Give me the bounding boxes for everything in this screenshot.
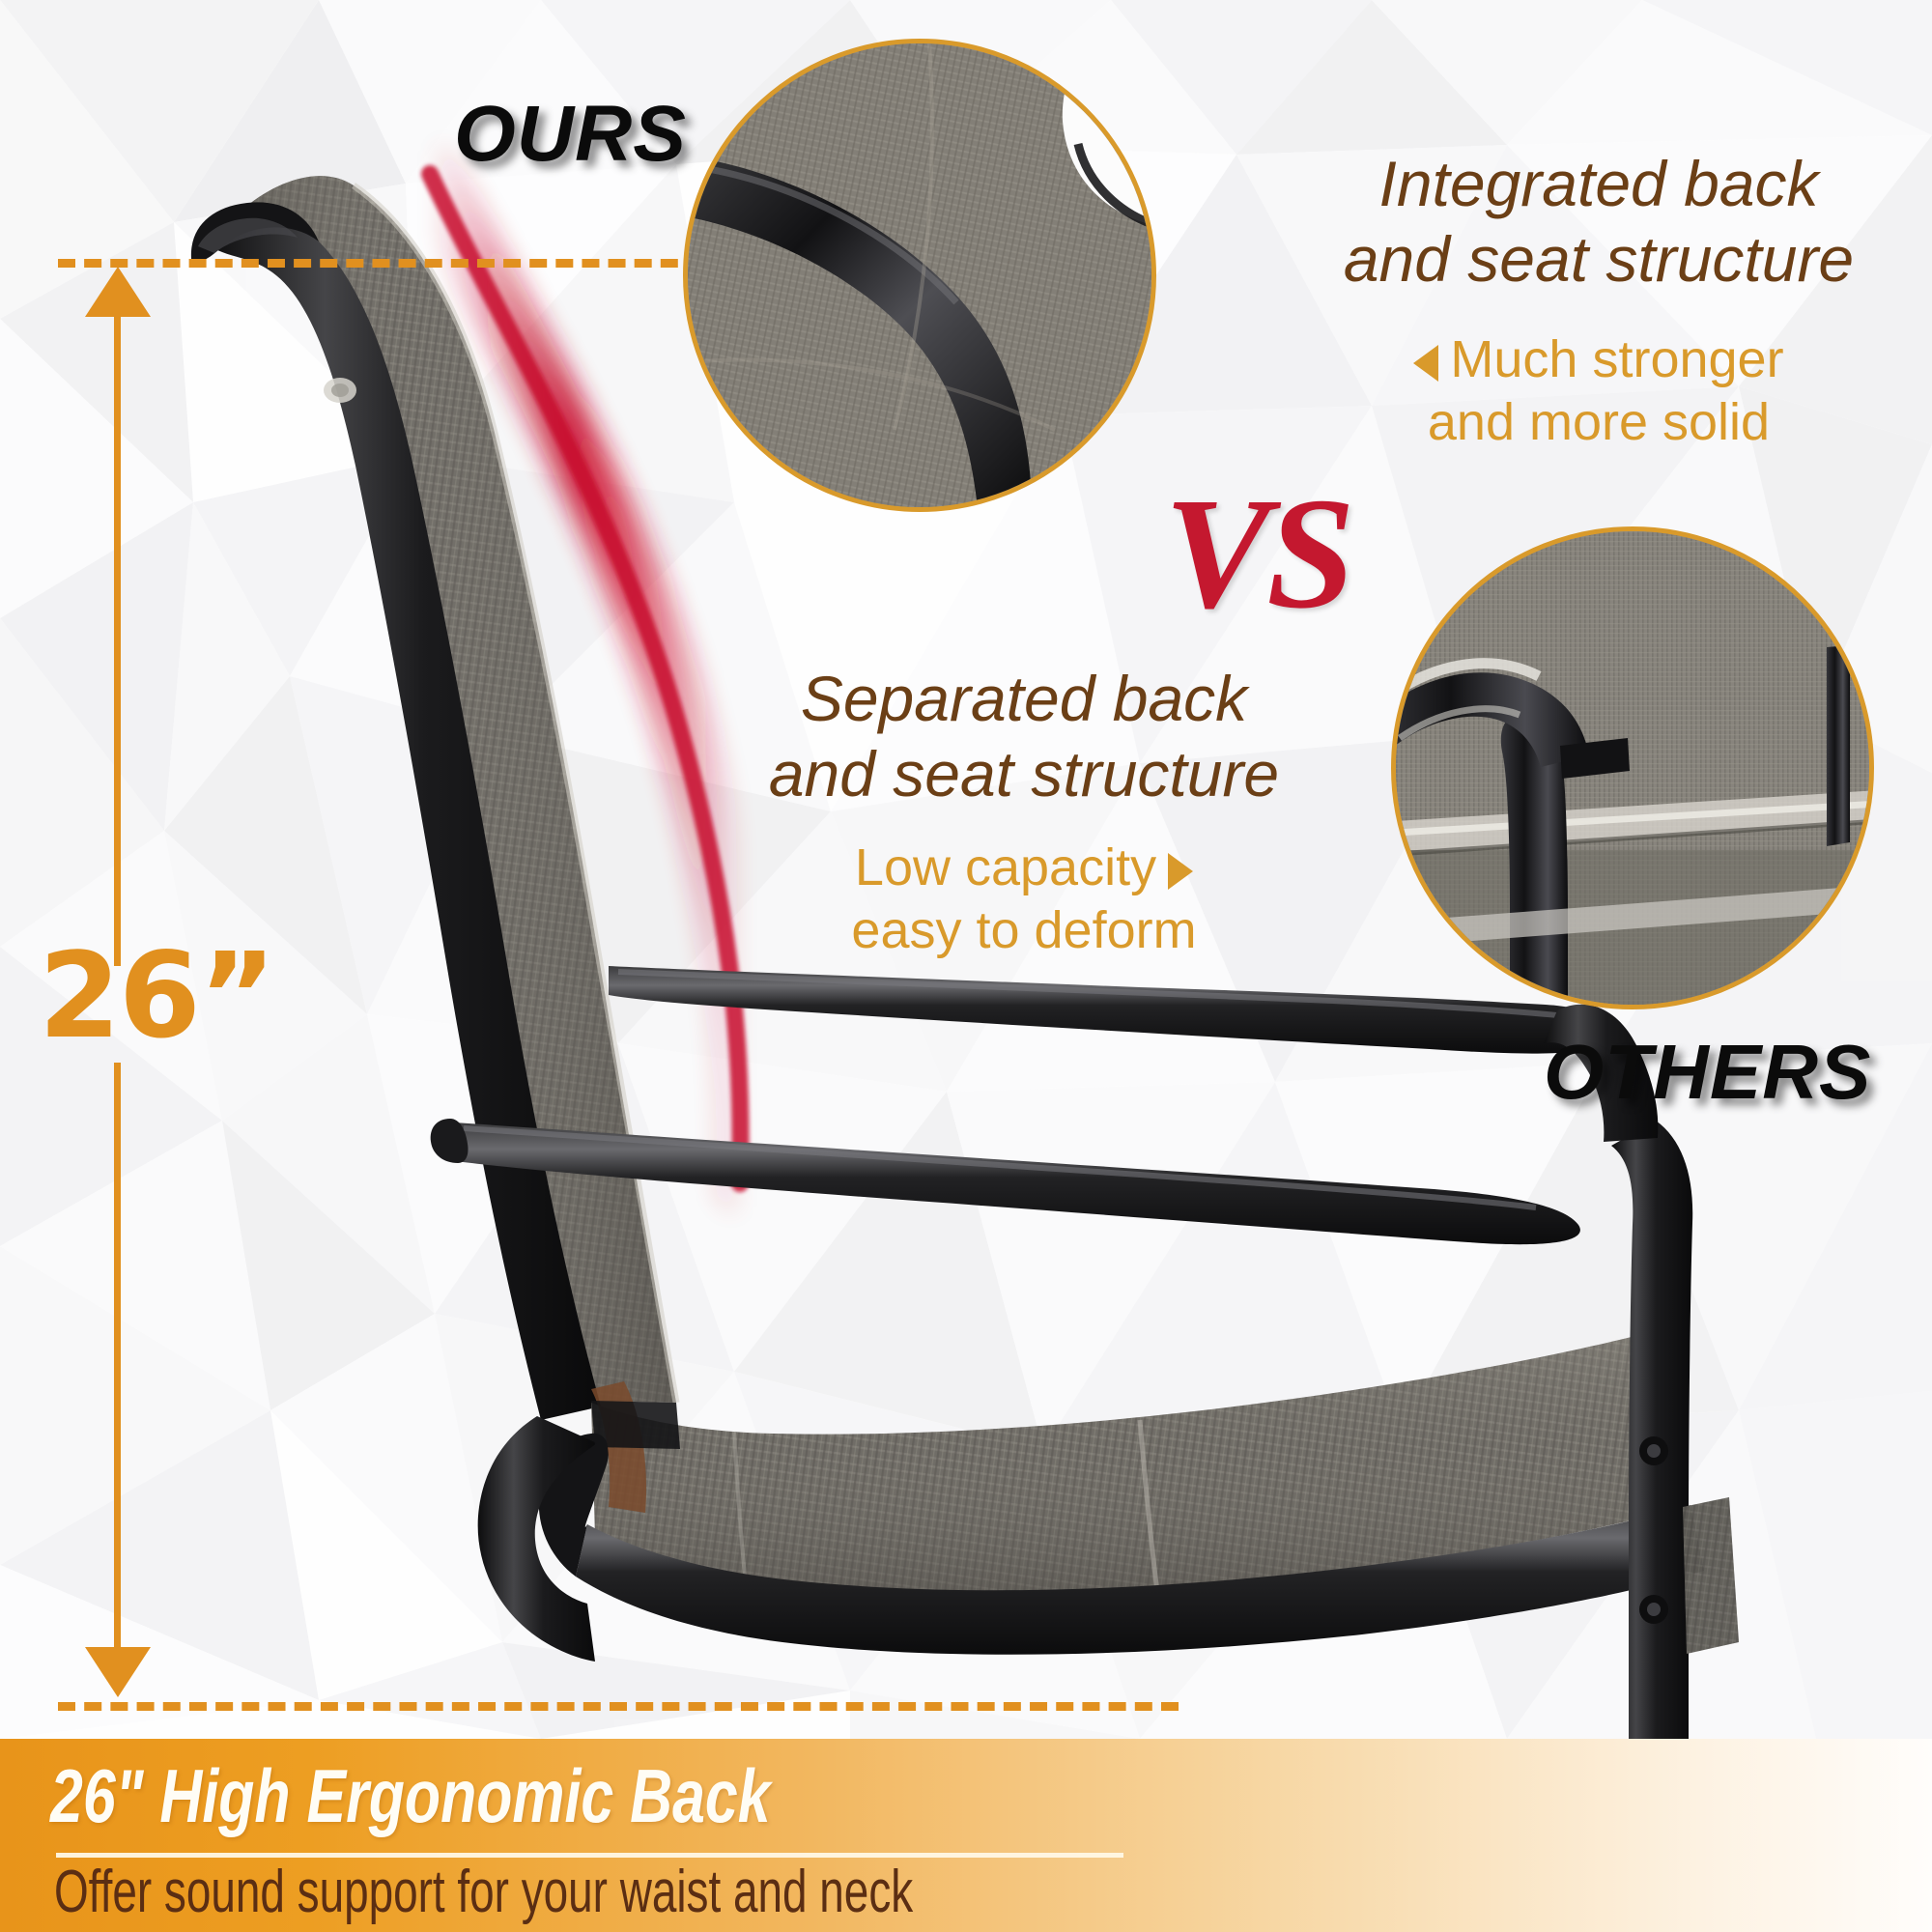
dimension-stem-upper (114, 309, 121, 966)
others-headline: Separated back and seat structure (734, 662, 1314, 812)
ours-sub-line1: Much stronger (1450, 330, 1783, 388)
label-others: OTHERS (1544, 1028, 1871, 1117)
banner-divider (56, 1853, 1123, 1858)
others-subline: Low capacity easy to deform (734, 837, 1314, 962)
bottom-banner: 26" High Ergonomic Back Offer sound supp… (0, 1739, 1932, 1932)
ours-subline: Much stronger and more solid (1309, 328, 1889, 454)
banner-subtitle: Offer sound support for your waist and n… (54, 1862, 913, 1922)
others-sub-line1: Low capacity (855, 838, 1156, 896)
label-ours: OURS (454, 89, 687, 180)
vs-label: VS (1164, 462, 1351, 645)
dimension-arrow-down (85, 1647, 151, 1697)
inset-ours-image (688, 43, 1156, 512)
ours-headline-line1: Integrated back (1309, 147, 1889, 222)
ours-sub-line2: and more solid (1309, 391, 1889, 454)
inset-others-image (1396, 531, 1874, 1009)
dimension-label: 26” (39, 937, 274, 1055)
inset-ours-detail (683, 39, 1156, 512)
dimension-stem-lower (114, 1063, 121, 1652)
arrow-right-icon (1168, 853, 1193, 890)
arrow-left-icon (1413, 345, 1438, 382)
ours-headline: Integrated back and seat structure (1309, 147, 1889, 298)
bottom-dashed-guide (58, 1702, 1179, 1711)
others-headline-line1: Separated back (734, 662, 1314, 737)
others-headline-line2: and seat structure (734, 737, 1314, 812)
ours-headline-line2: and seat structure (1309, 222, 1889, 298)
infographic-canvas: 26” OURS (0, 0, 1932, 1932)
others-sub-line2: easy to deform (734, 899, 1314, 962)
inset-others-detail (1391, 526, 1874, 1009)
banner-title: 26" High Ergonomic Back (50, 1758, 771, 1833)
